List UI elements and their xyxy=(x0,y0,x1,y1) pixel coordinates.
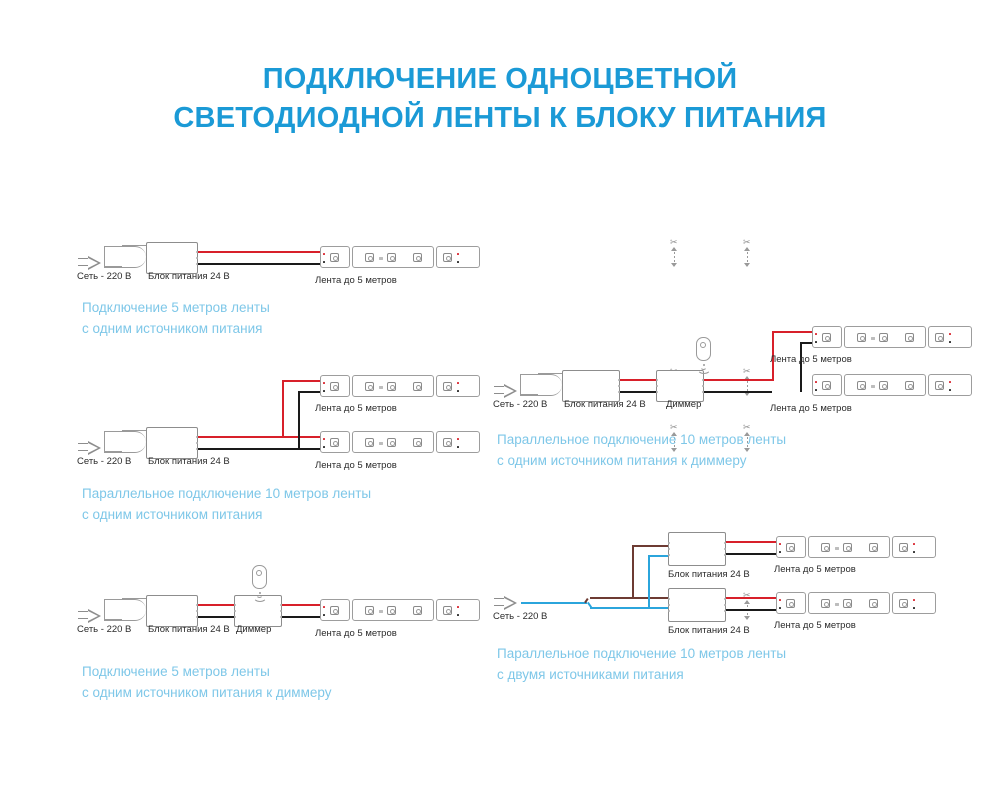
label-psu: Блок питания 24 В xyxy=(668,626,750,636)
dc-wire-negative-lower xyxy=(198,448,322,450)
label-psu: Блок питания 24 В xyxy=(668,570,750,580)
mains-cord-tail xyxy=(520,394,538,395)
dc-wire-positive-to-dimmer xyxy=(620,379,656,381)
power-supply-unit xyxy=(146,242,198,274)
dc-wire-positive-lower xyxy=(198,436,322,438)
ac-wire-neutral-run xyxy=(590,607,676,609)
label-strip: Лента до 5 метров xyxy=(315,276,397,286)
diagram-caption: Параллельное подключение 10 метров ленты… xyxy=(82,484,371,526)
mains-cord xyxy=(104,246,146,268)
ac-cable-combined xyxy=(521,602,587,604)
ac-neutral-riser xyxy=(648,555,650,608)
mains-cord-tail xyxy=(104,266,122,267)
label-mains: Сеть - 220 В xyxy=(493,612,547,622)
dc-wire-positive-upper xyxy=(726,541,778,543)
label-mains: Сеть - 220 В xyxy=(77,457,131,467)
label-strip: Лента до 5 метров xyxy=(774,565,856,575)
label-strip: Лента до 5 метров xyxy=(315,629,397,639)
dc-wire-negative-lower xyxy=(704,391,772,393)
dc-branch-negative-top xyxy=(298,391,322,393)
dc-wire-negative-upper xyxy=(726,553,778,555)
dc-wire-negative-to-dimmer xyxy=(620,391,656,393)
mains-cord-top xyxy=(122,430,146,431)
power-supply-unit xyxy=(146,595,198,627)
led-strip: ✂ ✂ xyxy=(776,536,936,558)
dc-wire-negative-to-dimmer xyxy=(198,616,234,618)
dc-branch-negative-riser xyxy=(800,342,802,392)
ac-live-riser xyxy=(632,545,634,598)
dc-wire-negative-lower xyxy=(726,609,778,611)
diagram-parallel-10m-two-psu: Сеть - 220 В Блок питания 24 В xyxy=(0,0,520,200)
label-mains: Сеть - 220 В xyxy=(77,625,131,635)
label-mains: Сеть - 220 В xyxy=(77,272,131,282)
dc-wire-positive-lower xyxy=(704,379,772,381)
power-supply-unit xyxy=(146,427,198,459)
dc-branch-positive-top xyxy=(772,331,814,333)
diagram-caption: Подключение 5 метров ленты с одним источ… xyxy=(82,298,270,340)
diagram-caption: Подключение 5 метров ленты с одним источ… xyxy=(82,662,331,704)
diagram-canvas: ПОДКЛЮЧЕНИЕ ОДНОЦВЕТНОЙ СВЕТОДИОДНОЙ ЛЕН… xyxy=(0,0,1000,800)
power-supply-unit xyxy=(668,532,726,566)
mains-cord-top xyxy=(538,373,562,374)
led-strip: ✂ ✂ xyxy=(320,599,480,621)
label-dimmer: Диммер xyxy=(666,400,701,410)
led-strip: ✂ ✂ xyxy=(776,592,936,614)
mains-cord-top xyxy=(122,245,146,246)
label-psu: Блок питания 24 В xyxy=(148,272,230,282)
label-psu: Блок питания 24 В xyxy=(148,625,230,635)
label-strip: Лента до 5 метров xyxy=(770,404,852,414)
diagram-caption: Параллельное подключение 10 метров ленты… xyxy=(497,644,786,686)
dc-wire-positive-to-strip xyxy=(282,604,322,606)
power-supply-unit xyxy=(668,588,726,622)
dc-wire-negative xyxy=(198,263,322,265)
led-strip: ✂ ✂ xyxy=(812,326,972,348)
label-strip: Лента до 5 метров xyxy=(770,355,852,365)
dc-wire-positive xyxy=(198,251,322,253)
label-strip: Лента до 5 метров xyxy=(774,621,856,631)
mains-cord xyxy=(104,599,146,621)
power-supply-unit xyxy=(562,370,620,402)
dc-wire-negative-to-strip xyxy=(282,616,322,618)
label-dimmer: Диммер xyxy=(236,625,271,635)
led-strip: ✂ ✂ xyxy=(812,374,972,396)
label-strip: Лента до 5 метров xyxy=(315,404,397,414)
led-strip: ✂ ✂ xyxy=(320,246,480,268)
dc-wire-positive-lower xyxy=(726,597,778,599)
label-psu: Блок питания 24 В xyxy=(148,457,230,467)
mains-cord xyxy=(520,374,562,396)
led-strip: ✂ ✂ xyxy=(320,431,480,453)
mains-cord xyxy=(104,431,146,453)
mains-cord-tail xyxy=(104,451,122,452)
mains-cord-tail xyxy=(104,619,122,620)
led-strip: ✂ ✂ xyxy=(320,375,480,397)
mains-cord-top xyxy=(122,598,146,599)
label-mains: Сеть - 220 В xyxy=(493,400,547,410)
dc-branch-positive-top xyxy=(282,380,322,382)
dc-branch-negative-riser xyxy=(298,391,300,449)
label-strip: Лента до 5 метров xyxy=(315,461,397,471)
label-psu: Блок питания 24 В xyxy=(564,400,646,410)
dc-wire-positive-to-dimmer xyxy=(198,604,234,606)
dimmer-unit xyxy=(656,370,704,402)
diagram-caption: Параллельное подключение 10 метров ленты… xyxy=(497,430,786,472)
dc-branch-positive-riser xyxy=(282,380,284,438)
